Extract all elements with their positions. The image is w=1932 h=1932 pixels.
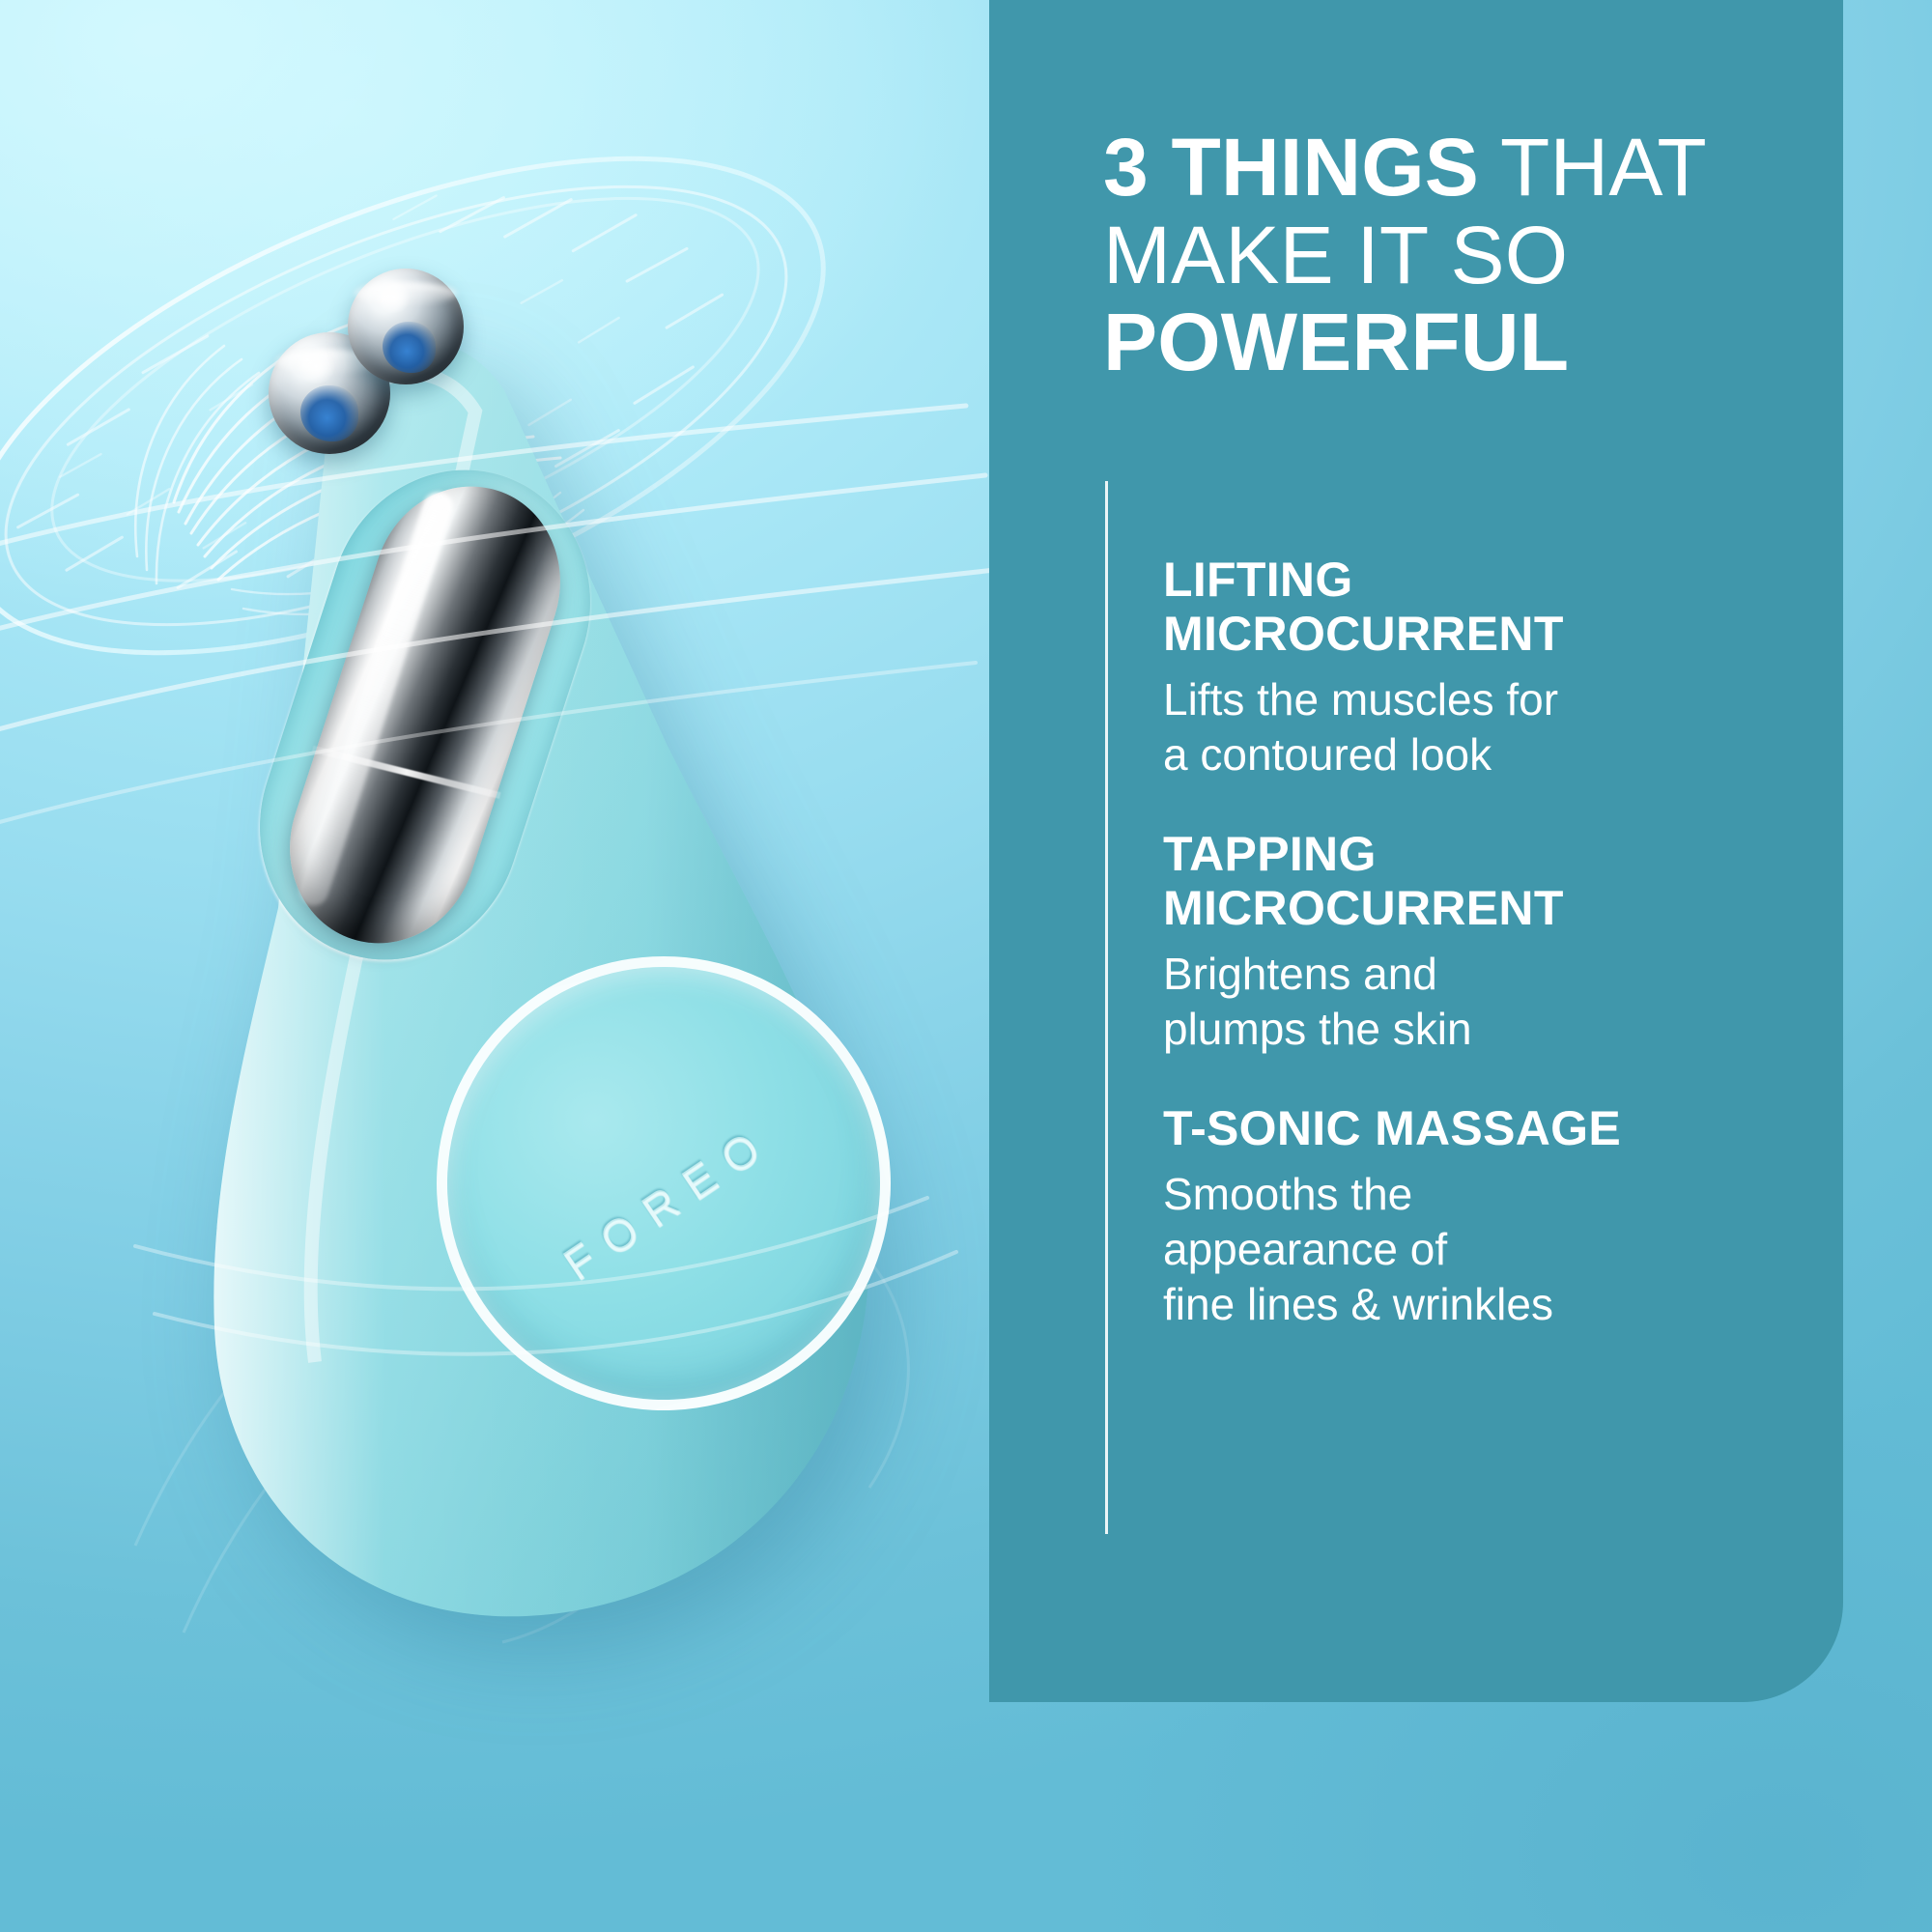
headline-line1-rest: THAT [1479, 122, 1707, 213]
feature-description: Lifts the muscles for a contoured look [1163, 672, 1801, 782]
feature-description: Brightens and plumps the skin [1163, 947, 1801, 1057]
info-panel: 3 THINGS THAT MAKE IT SO POWERFUL LIFTIN… [989, 0, 1843, 1702]
feature-item-t-sonic-massage: T-SONIC MASSAGE Smooths the appearance o… [1163, 1101, 1801, 1332]
headline-line3: POWERFUL [1103, 298, 1799, 386]
feature-item-tapping-microcurrent: TAPPING MICROCURRENT Brightens and plump… [1163, 827, 1801, 1057]
headline-line2: MAKE IT SO [1103, 212, 1799, 299]
feature-title: TAPPING MICROCURRENT [1163, 827, 1801, 935]
headline-emphasis: 3 THINGS [1103, 122, 1479, 213]
feature-title: T-SONIC MASSAGE [1163, 1101, 1801, 1155]
feature-list: LIFTING MICROCURRENT Lifts the muscles f… [1163, 553, 1801, 1332]
promo-image: FOREO 3 THINGS THAT MAKE IT SO [0, 0, 1932, 1932]
foreo-bear-device: FOREO [126, 290, 918, 1662]
chrome-sphere-icon-right [348, 269, 464, 384]
feature-title: LIFTING MICROCURRENT [1163, 553, 1801, 661]
vertical-divider [1105, 481, 1108, 1534]
feature-description: Smooths the appearance of fine lines & w… [1163, 1167, 1801, 1332]
page-title: 3 THINGS THAT MAKE IT SO POWERFUL [1103, 124, 1799, 386]
feature-item-lifting-microcurrent: LIFTING MICROCURRENT Lifts the muscles f… [1163, 553, 1801, 782]
